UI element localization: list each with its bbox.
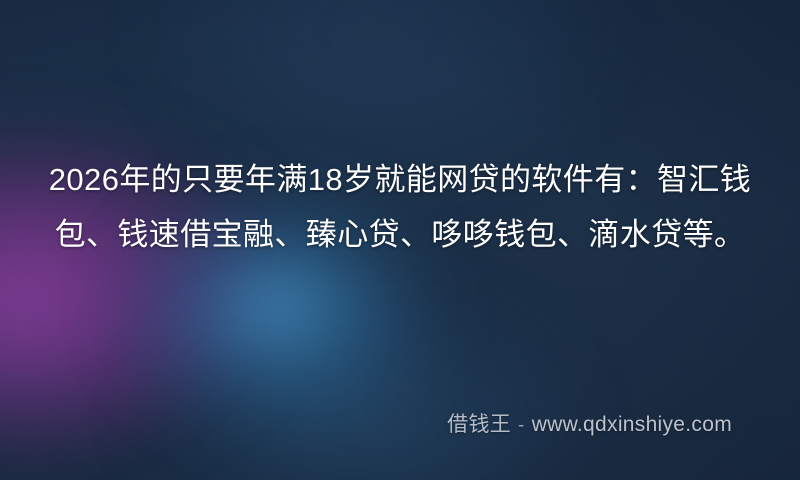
watermark-brand: 借钱王: [447, 408, 511, 438]
promo-banner: 2026年的只要年满18岁就能网贷的软件有：智汇钱包、钱速借宝融、臻心贷、哆哆钱…: [0, 0, 800, 480]
site-watermark: 借钱王 - www.qdxinshiye.com: [447, 408, 732, 438]
top-haze-decoration: [170, 0, 590, 170]
teal-glow-decoration: [150, 300, 570, 480]
watermark-separator: -: [518, 415, 525, 437]
banner-headline: 2026年的只要年满18岁就能网贷的软件有：智汇钱包、钱速借宝融、臻心贷、哆哆钱…: [0, 152, 800, 262]
watermark-url: www.qdxinshiye.com: [532, 413, 732, 437]
